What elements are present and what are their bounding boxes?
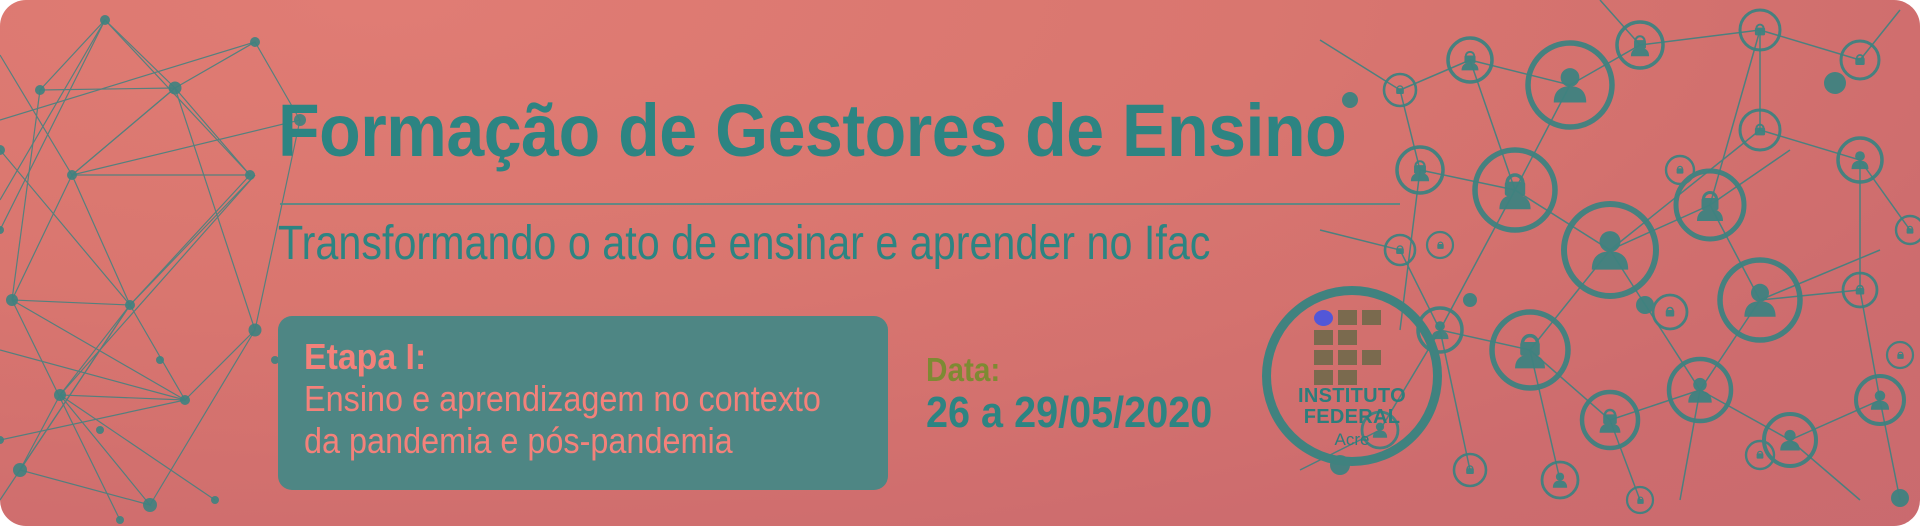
logo-tile <box>1338 310 1357 325</box>
network-lock-person-node <box>1475 150 1555 230</box>
network-lock-node <box>1740 10 1780 50</box>
network-lock-person-node <box>1676 171 1744 239</box>
logo-name-line-1: INSTITUTO <box>1262 386 1442 407</box>
network-lock-person-node <box>1492 312 1568 388</box>
logo-tile <box>1362 350 1381 365</box>
logo-tile <box>1362 310 1381 325</box>
network-lock-node <box>1454 454 1486 486</box>
network-lock-node <box>1427 232 1453 258</box>
network-lock-node <box>1666 156 1694 184</box>
logo-tile <box>1338 350 1357 365</box>
network-lock-person-node <box>1617 22 1663 68</box>
etapa-description-line-1: Ensino e aprendizagem no contexto <box>304 378 806 420</box>
etapa-description-line-2: da pandemia e pós-pandemia <box>304 420 806 462</box>
date-label: Data: <box>926 352 1223 388</box>
network-lock-node <box>1627 487 1653 513</box>
network-lock-node <box>1843 273 1877 307</box>
network-lock-node <box>1653 295 1687 329</box>
etapa-info-box: Etapa I: Ensino e aprendizagem no contex… <box>278 316 888 490</box>
date-block: Data: 26 a 29/05/2020 <box>926 352 1256 438</box>
logo-name-line-2: FEDERAL <box>1262 407 1442 428</box>
logo-institution-name: INSTITUTO FEDERAL <box>1262 386 1442 428</box>
network-person-node <box>1528 43 1612 127</box>
network-lock-node <box>1385 235 1415 265</box>
logo-tile <box>1314 350 1333 365</box>
network-lock-person-node <box>1448 38 1492 82</box>
network-lock-node <box>1740 110 1780 150</box>
date-value: 26 a 29/05/2020 <box>926 388 1223 438</box>
title-divider <box>280 203 1400 205</box>
network-lock-person-node <box>1582 392 1638 448</box>
network-person-node <box>1542 462 1578 498</box>
network-person-node <box>1669 359 1731 421</box>
network-person-node <box>1838 138 1882 182</box>
logo-campus-name: Acre <box>1262 430 1442 450</box>
event-banner: Formação de Gestores de Ensino Transform… <box>0 0 1920 526</box>
network-person-node <box>1856 376 1904 424</box>
logo-accent-dot <box>1314 310 1333 326</box>
network-person-node <box>1720 260 1800 340</box>
logo-tile <box>1338 330 1357 345</box>
network-person-node <box>1764 414 1816 466</box>
network-lock-node <box>1384 74 1416 106</box>
network-lock-node <box>1841 41 1879 79</box>
logo-tile <box>1314 370 1333 385</box>
logo-tile <box>1338 370 1357 385</box>
network-lock-node <box>1896 216 1920 244</box>
page-title: Formação de Gestores de Ensino <box>278 92 1346 170</box>
etapa-label: Etapa I: <box>304 336 829 378</box>
network-person-node <box>1564 204 1656 296</box>
banner-content: Formação de Gestores de Ensino Transform… <box>278 0 1278 526</box>
banner-subtitle: Transformando o ato de ensinar e aprende… <box>278 216 1210 272</box>
logo-mosaic-icon <box>1314 310 1390 378</box>
logo-tile <box>1314 330 1333 345</box>
network-lock-node <box>1746 441 1774 469</box>
instituto-federal-acre-logo: INSTITUTO FEDERAL Acre <box>1262 286 1442 466</box>
network-lock-node <box>1887 342 1913 368</box>
network-lock-person-node <box>1397 147 1443 193</box>
